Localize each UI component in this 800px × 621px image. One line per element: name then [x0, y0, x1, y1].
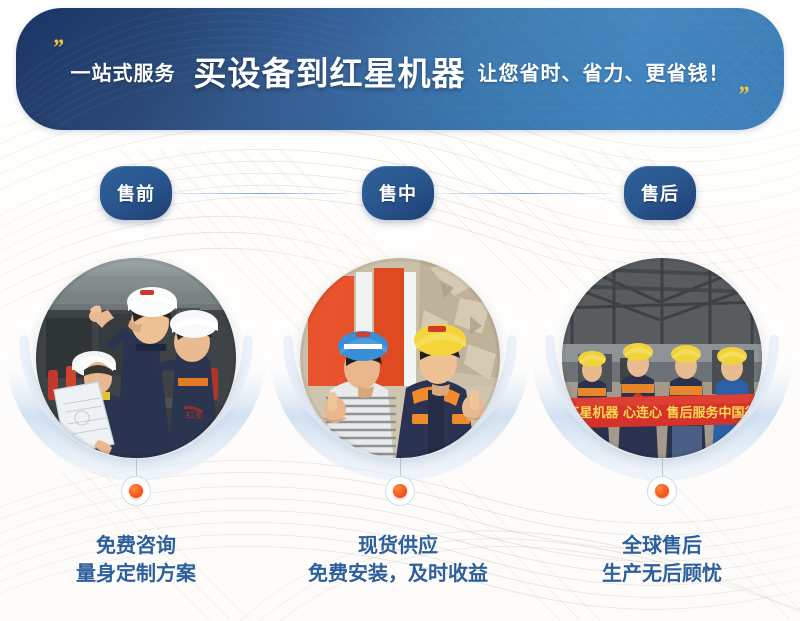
caption-line-1: 全球售后: [512, 532, 800, 560]
caption-presale: 免费咨询 量身定制方案: [0, 532, 286, 589]
dot-icon: [655, 484, 669, 498]
photo-aftersale[interactable]: 红星机器 心连心 售后服务中国行: [562, 258, 762, 458]
banner-lead-text: 一站式服务: [71, 57, 176, 86]
caption-line-2: 量身定制方案: [0, 560, 286, 588]
banner-headline: 买设备到红星机器: [194, 47, 466, 95]
step-badge-presale[interactable]: 售前: [100, 166, 172, 220]
service-process-banner: ” ” 一站式服务 买设备到红星机器 让您省时、省力、更省钱！: [0, 0, 800, 621]
status-dot-presale: [121, 476, 151, 506]
photo-presale[interactable]: 红星: [36, 258, 236, 458]
photo-banner-text: 红星机器 心连心 售后服务中国行: [566, 405, 757, 421]
header-banner: ” ” 一站式服务 买设备到红星机器 让您省时、省力、更省钱！: [16, 8, 784, 130]
caption-aftersale: 全球售后 生产无后顾忧: [512, 532, 800, 589]
caption-line-1: 现货供应: [248, 532, 548, 560]
step-connector-line-2: [434, 193, 612, 194]
dot-icon: [129, 484, 143, 498]
after-sales-team-image: 红星机器 心连心 售后服务中国行: [562, 258, 762, 458]
step-badge-label: 售前: [117, 180, 155, 206]
caption-line-1: 免费咨询: [0, 532, 286, 560]
status-dot-aftersale: [647, 476, 677, 506]
caption-line-2: 免费安装，及时收益: [248, 560, 548, 588]
step-badge-midsale[interactable]: 售中: [362, 166, 434, 220]
photo-midsale[interactable]: [300, 258, 500, 458]
step-badge-row: 售前 售中 售后: [0, 166, 800, 222]
banner-tail-text: 让您省时、省力、更省钱！: [478, 57, 730, 86]
svg-text:红星: 红星: [186, 409, 204, 420]
workers-reviewing-blueprint-image: 红星: [36, 258, 236, 458]
step-badge-label: 售后: [641, 180, 679, 206]
caption-midsale: 现货供应 免费安装，及时收益: [248, 532, 548, 589]
workers-thumbs-up-image: [300, 258, 500, 458]
step-connector-line-1: [172, 193, 348, 194]
dot-icon: [393, 484, 407, 498]
step-badge-aftersale[interactable]: 售后: [624, 166, 696, 220]
status-dot-midsale: [385, 476, 415, 506]
step-badge-label: 售中: [379, 180, 417, 206]
caption-line-2: 生产无后顾忧: [512, 560, 800, 588]
